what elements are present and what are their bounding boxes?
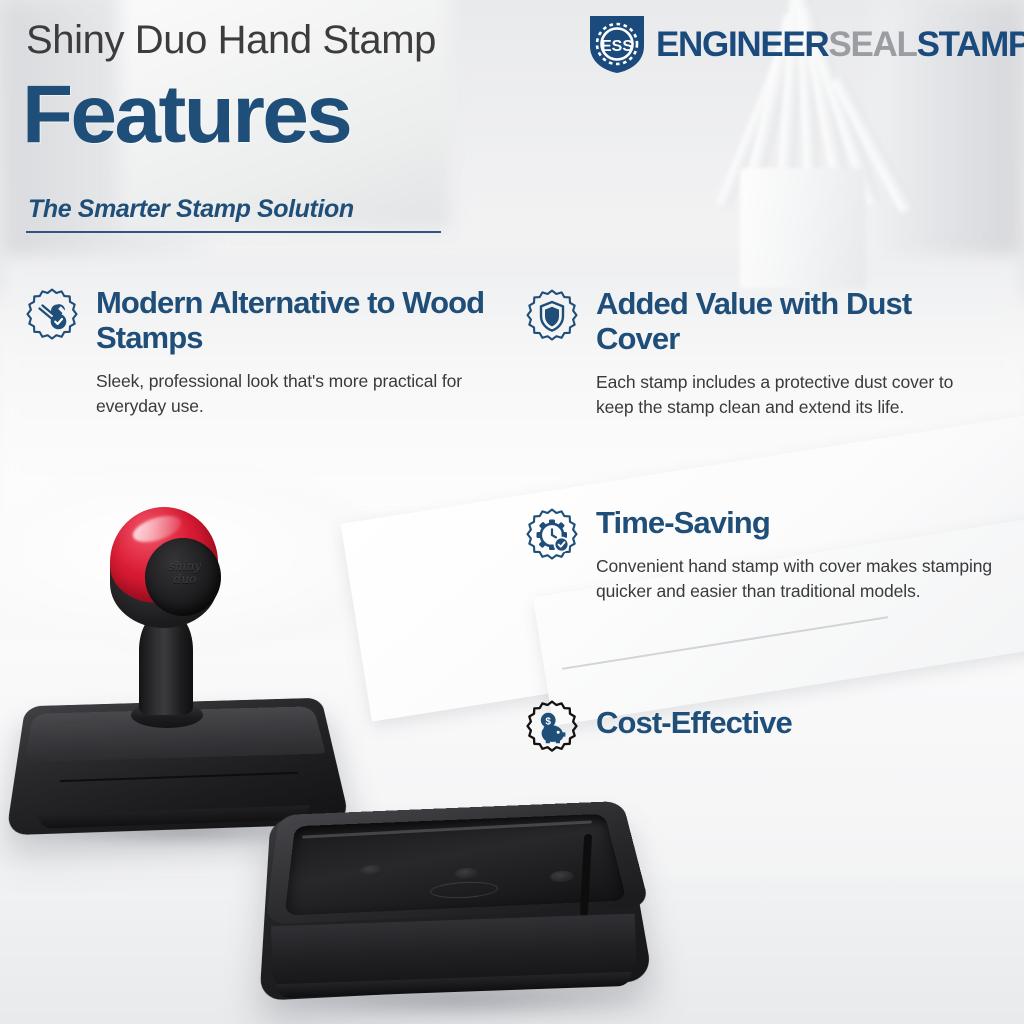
feature-item-modern-alternative: Modern Alternative to Wood Stamps Sleek,… <box>24 285 494 419</box>
feature-text-block: Cost-Effective <box>596 697 964 740</box>
feature-description: Each stamp includes a protective dust co… <box>596 370 984 420</box>
title-underline-rule <box>26 231 441 233</box>
infographic-page: Shiny Duo Hand Stamp ESS ENGINEER SEAL S… <box>0 0 1024 1024</box>
brand-logo[interactable]: ESS ENGINEER SEAL STAMPS .COM <box>586 13 1012 75</box>
tools-check-badge-icon <box>24 287 80 343</box>
svg-text:ESS: ESS <box>601 38 633 55</box>
feature-title: Added Value with Dust Cover <box>596 286 984 356</box>
stamp-cap-disc <box>145 538 221 616</box>
feature-item-added-value: Added Value with Dust Cover Each stamp i… <box>524 286 984 420</box>
feature-item-time-saving: Time-Saving Convenient hand stamp with c… <box>524 505 994 604</box>
feature-text-block: Added Value with Dust Cover Each stamp i… <box>596 286 984 420</box>
feature-text-block: Time-Saving Convenient hand stamp with c… <box>596 505 994 604</box>
ess-badge-icon: ESS <box>586 13 648 75</box>
product-name-title: Shiny Duo Hand Stamp <box>26 18 436 63</box>
brand-word-engineer: ENGINEER <box>656 27 828 62</box>
feature-title: Modern Alternative to Wood Stamps <box>96 285 494 355</box>
brand-word-seal: SEAL <box>828 27 916 62</box>
page-title: Features <box>22 74 350 156</box>
brand-word-stamps: STAMPS <box>917 27 1024 62</box>
feature-title: Cost-Effective <box>596 697 964 740</box>
feature-text-block: Modern Alternative to Wood Stamps Sleek,… <box>96 285 494 419</box>
feature-item-cost-effective: $ Cost-Effective <box>524 697 964 755</box>
dust-cover-product-photo <box>250 780 690 1024</box>
feature-title: Time-Saving <box>596 505 994 540</box>
piggy-bank-badge-icon: $ <box>524 699 580 755</box>
brand-wordmark: ENGINEER SEAL STAMPS .COM <box>656 27 1024 62</box>
page-subtitle: The Smarter Stamp Solution <box>28 195 354 224</box>
feature-description: Convenient hand stamp with cover makes s… <box>596 554 994 604</box>
background-pen-holder <box>740 168 866 288</box>
shield-badge-icon <box>524 288 580 344</box>
gear-clock-check-badge-icon <box>524 507 580 563</box>
feature-description: Sleek, professional look that's more pra… <box>96 369 494 419</box>
